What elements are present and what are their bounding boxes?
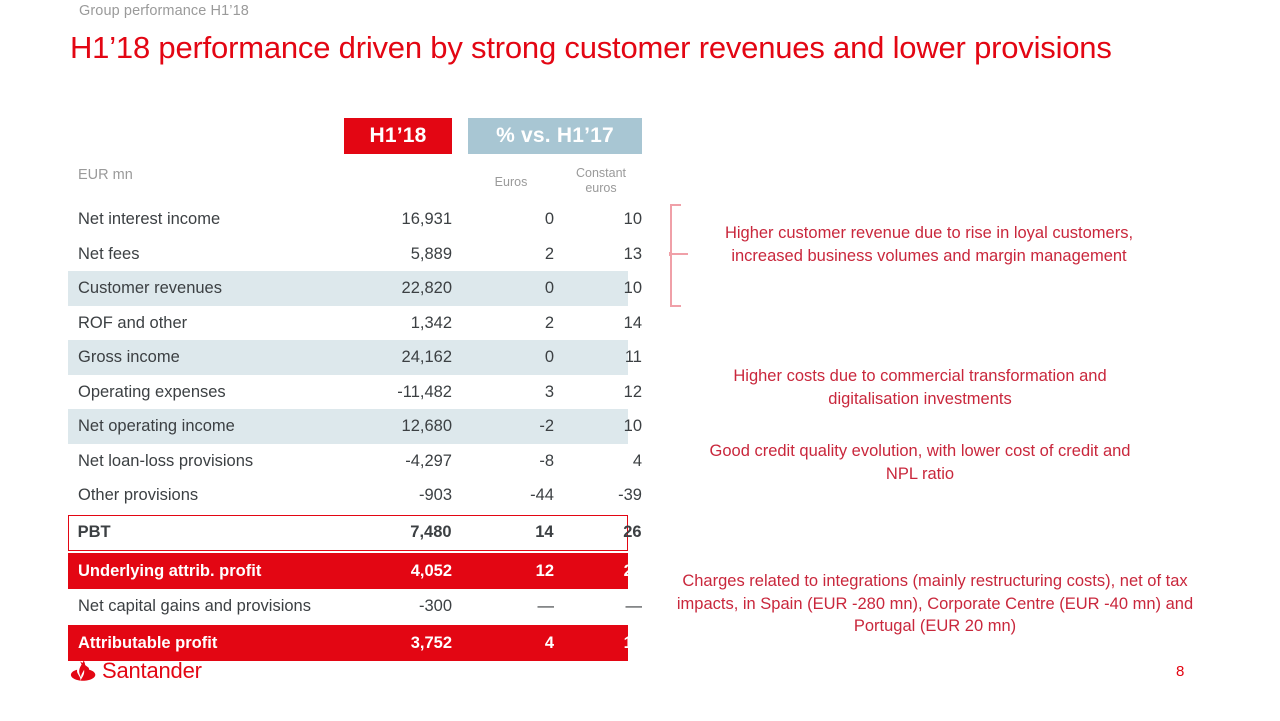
row-value-constant: 4 (562, 444, 642, 479)
row-value-euros: 0 (464, 340, 554, 375)
table-row: Customer revenues22,820010 (68, 271, 628, 306)
column-header-variation: % vs. H1’17 (468, 118, 642, 154)
row-value-constant: 25 (562, 553, 642, 589)
row-label: Net loan-loss provisions (78, 444, 253, 479)
row-value-current: 22,820 (318, 271, 452, 306)
row-value-euros: -2 (464, 409, 554, 444)
row-label: Gross income (78, 340, 180, 375)
row-value-current: 24,162 (318, 340, 452, 375)
table-row: Net loan-loss provisions-4,297-84 (68, 444, 628, 479)
table-subheader: EUR mn Euros Constant euros (68, 154, 628, 202)
row-value-euros: — (464, 589, 554, 624)
row-value-current: 7,480 (318, 516, 452, 549)
row-value-euros: 0 (464, 271, 554, 306)
row-label: PBT (78, 516, 111, 549)
row-value-euros: -44 (464, 478, 554, 513)
row-value-constant: 10 (562, 202, 642, 237)
row-label: Net operating income (78, 409, 235, 444)
page-title: H1’18 performance driven by strong custo… (70, 30, 1112, 66)
table-row: Net operating income12,680-210 (68, 409, 628, 444)
row-value-euros: 14 (464, 516, 554, 549)
row-label: Other provisions (78, 478, 198, 513)
table-row: Net capital gains and provisions-300—— (68, 589, 628, 624)
financial-table: H1’18 % vs. H1’17 EUR mn Euros Constant … (68, 118, 628, 661)
constant-line-2: euros (585, 181, 616, 195)
row-label: Net capital gains and provisions (78, 589, 311, 624)
row-value-euros: 2 (464, 237, 554, 272)
table-row: Underlying attrib. profit4,0521225 (68, 553, 628, 589)
row-label: ROF and other (78, 306, 187, 341)
callout-credit-quality: Good credit quality evolution, with lowe… (700, 440, 1140, 485)
table-row: Other provisions-903-44-39 (68, 478, 628, 513)
table-row: PBT7,4801426 (68, 515, 628, 551)
row-value-euros: 3 (464, 375, 554, 410)
row-label: Net fees (78, 237, 139, 272)
row-value-current: 5,889 (318, 237, 452, 272)
unit-label: EUR mn (78, 167, 133, 183)
row-value-current: 12,680 (318, 409, 452, 444)
row-value-euros: 12 (464, 553, 554, 589)
santander-logo: Santander (70, 658, 202, 684)
constant-line-1: Constant (576, 166, 626, 180)
row-value-current: 3,752 (318, 625, 452, 661)
row-label: Net interest income (78, 202, 220, 237)
row-value-euros: 2 (464, 306, 554, 341)
row-value-constant: 14 (562, 306, 642, 341)
santander-flame-icon (70, 659, 96, 683)
row-value-constant: 10 (562, 409, 642, 444)
brace-connector-icon (668, 203, 690, 308)
row-value-constant: 12 (562, 375, 642, 410)
santander-wordmark: Santander (102, 658, 202, 684)
row-value-constant: 26 (562, 516, 642, 549)
row-value-current: 1,342 (318, 306, 452, 341)
row-value-constant: 16 (562, 625, 642, 661)
callout-customer-revenue: Higher customer revenue due to rise in l… (700, 222, 1158, 267)
page-number: 8 (1176, 663, 1184, 680)
row-value-euros: 4 (464, 625, 554, 661)
row-label: Underlying attrib. profit (78, 553, 261, 589)
table-body: Net interest income16,931010Net fees5,88… (68, 202, 628, 661)
table-row: Operating expenses-11,482312 (68, 375, 628, 410)
row-value-current: 16,931 (318, 202, 452, 237)
row-value-euros: -8 (464, 444, 554, 479)
callout-integration-charges: Charges related to integrations (mainly … (670, 570, 1200, 638)
eyebrow-label: Group performance H1’18 (79, 3, 249, 19)
row-label: Operating expenses (78, 375, 226, 410)
subcolumn-label-constant-euros: Constant euros (560, 166, 642, 196)
row-value-constant: 10 (562, 271, 642, 306)
row-value-euros: 0 (464, 202, 554, 237)
row-value-current: -4,297 (318, 444, 452, 479)
row-value-constant: — (562, 589, 642, 624)
subcolumn-label-euros: Euros (468, 175, 554, 189)
row-value-current: -300 (318, 589, 452, 624)
table-row: Gross income24,162011 (68, 340, 628, 375)
row-value-constant: 11 (562, 340, 642, 375)
table-row: ROF and other1,342214 (68, 306, 628, 341)
column-header-current-period: H1’18 (344, 118, 452, 154)
table-header-chips: H1’18 % vs. H1’17 (68, 118, 628, 154)
row-label: Customer revenues (78, 271, 222, 306)
row-value-current: -903 (318, 478, 452, 513)
callout-costs: Higher costs due to commercial transform… (700, 365, 1140, 410)
table-row: Attributable profit3,752416 (68, 625, 628, 661)
row-value-current: 4,052 (318, 553, 452, 589)
table-row: Net fees5,889213 (68, 237, 628, 272)
row-label: Attributable profit (78, 625, 217, 661)
row-value-constant: 13 (562, 237, 642, 272)
row-value-current: -11,482 (318, 375, 452, 410)
table-row: Net interest income16,931010 (68, 202, 628, 237)
row-value-constant: -39 (562, 478, 642, 513)
